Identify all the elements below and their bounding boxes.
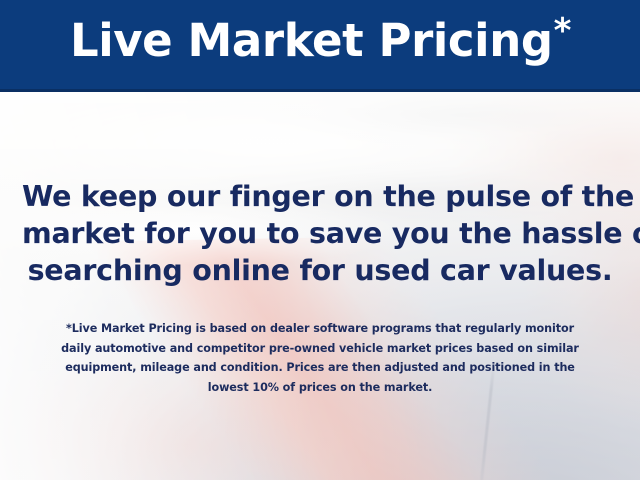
live-market-pricing-banner: Live Market Pricing* We keep our finger … [0,0,640,480]
disclaimer-line-1: *Live Market Pricing is based on dealer … [26,319,614,339]
disclaimer-line-4: lowest 10% of prices on the market. [26,378,614,398]
headline-block: We keep our finger on the pulse of the m… [22,178,618,289]
page-title-text: Live Market Pricing [70,14,553,67]
disclaimer-line-3: equipment, mileage and condition. Prices… [26,358,614,378]
header-banner: Live Market Pricing* [0,0,640,92]
headline-line-2: market for you to save you the hassle of [22,215,618,252]
page-title: Live Market Pricing* [0,13,640,69]
headline-line-1: We keep our finger on the pulse of the [22,178,618,215]
disclaimer-line-2: daily automotive and competitor pre-owne… [26,339,614,359]
headline-line-3: searching online for used car values. [22,252,618,289]
disclaimer-block: *Live Market Pricing is based on dealer … [26,319,614,397]
page-title-asterisk: * [554,11,571,51]
